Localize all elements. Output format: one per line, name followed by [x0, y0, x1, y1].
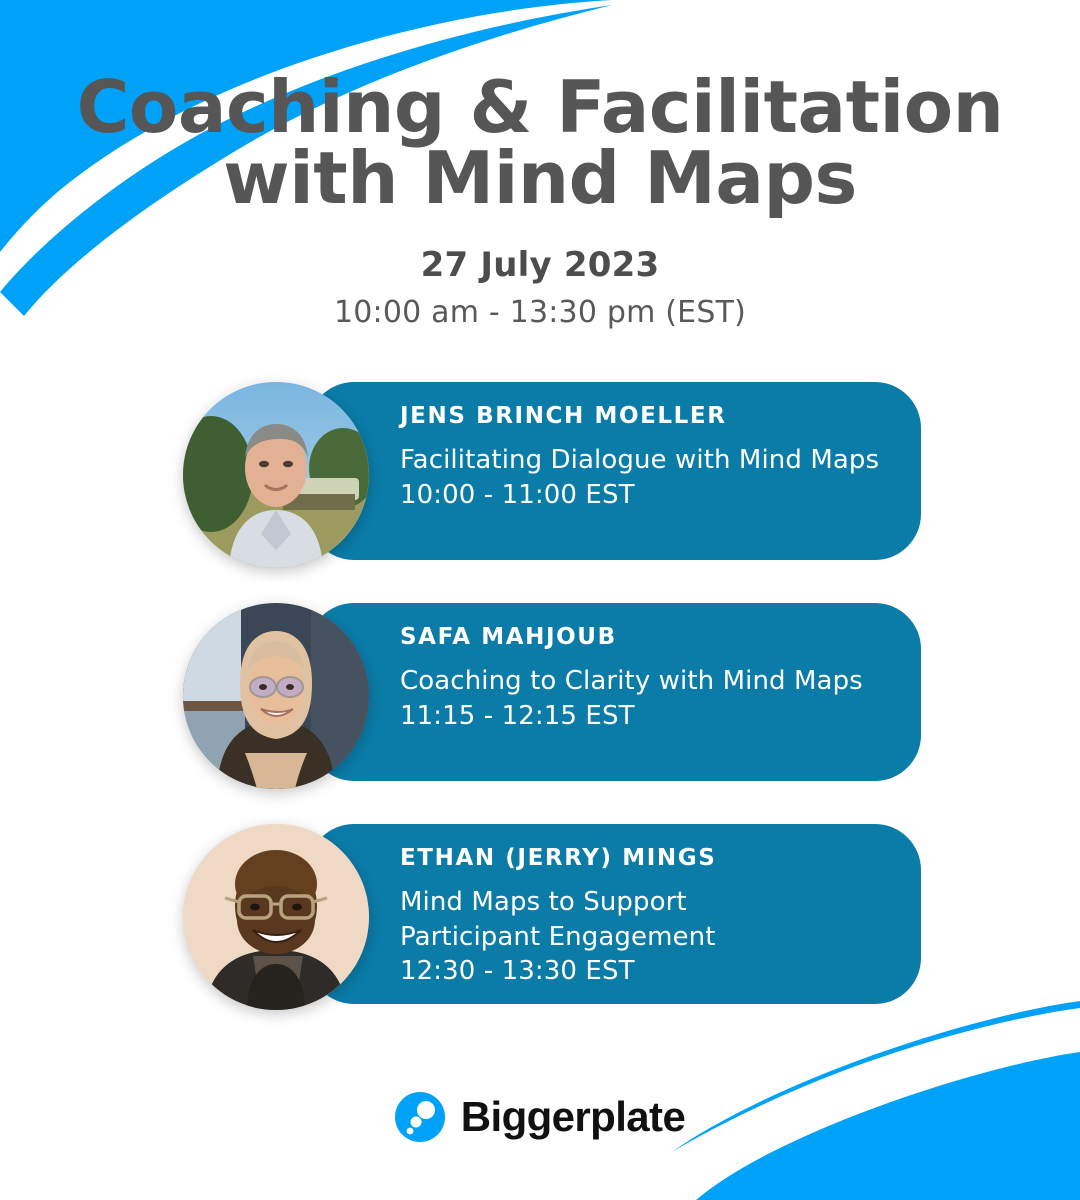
biggerplate-bubbles-icon — [395, 1092, 445, 1142]
session-topic-line-2: Participant Engagement — [400, 920, 897, 955]
page-title: Coaching & Facilitation with Mind Maps — [0, 72, 1080, 213]
session-item: Safa Mahjoub Coaching to Clarity with Mi… — [0, 603, 1080, 781]
session-card: Ethan (Jerry) Mings Mind Maps to Support… — [308, 824, 921, 1004]
event-poster: Coaching & Facilitation with Mind Maps 2… — [0, 0, 1080, 1200]
session-time: 11:15 - 12:15 EST — [400, 699, 897, 734]
session-item: Jens Brinch Moeller Facilitating Dialogu… — [0, 382, 1080, 560]
event-time-range: 10:00 am - 13:30 pm (EST) — [0, 295, 1080, 330]
session-card-text: Safa Mahjoub Coaching to Clarity with Mi… — [400, 625, 897, 733]
session-card: Safa Mahjoub Coaching to Clarity with Mi… — [308, 603, 921, 781]
avatar — [183, 603, 369, 789]
session-time: 10:00 - 11:00 EST — [400, 478, 897, 513]
avatar — [183, 382, 369, 568]
session-card-text: Jens Brinch Moeller Facilitating Dialogu… — [400, 404, 897, 512]
session-item: Ethan (Jerry) Mings Mind Maps to Support… — [0, 824, 1080, 1004]
footer-brand: Biggerplate — [0, 1092, 1080, 1142]
title-line-2: with Mind Maps — [60, 143, 1020, 214]
session-card-text: Ethan (Jerry) Mings Mind Maps to Support… — [400, 846, 897, 989]
poster-header: Coaching & Facilitation with Mind Maps 2… — [0, 72, 1080, 330]
portrait-ethan-jerry-mings — [183, 824, 369, 1010]
session-time: 12:30 - 13:30 EST — [400, 954, 897, 989]
session-card: Jens Brinch Moeller Facilitating Dialogu… — [308, 382, 921, 560]
brand-name: Biggerplate — [461, 1096, 685, 1138]
speaker-name: Ethan (Jerry) Mings — [400, 846, 897, 871]
session-topic: Coaching to Clarity with Mind Maps — [400, 664, 897, 699]
speaker-name: Safa Mahjoub — [400, 625, 897, 650]
speaker-name: Jens Brinch Moeller — [400, 404, 897, 429]
portrait-jens-brinch-moeller — [183, 382, 369, 568]
session-list: Jens Brinch Moeller Facilitating Dialogu… — [0, 382, 1080, 1047]
avatar — [183, 824, 369, 1010]
session-topic-line-1: Mind Maps to Support — [400, 885, 897, 920]
event-date: 27 July 2023 — [0, 245, 1080, 285]
portrait-safa-mahjoub — [183, 603, 369, 789]
session-topic: Facilitating Dialogue with Mind Maps — [400, 443, 897, 478]
